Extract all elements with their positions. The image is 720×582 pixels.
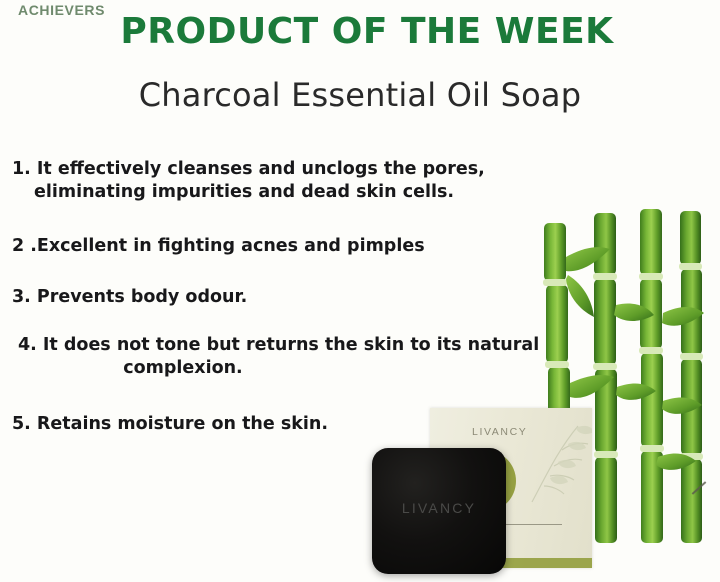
benefit-text: Excellent in fighting acnes and pimples [37, 236, 425, 256]
benefit-number: 4. [18, 335, 37, 355]
benefits-list: 1. It effectively cleanses and unclogs t… [0, 158, 600, 456]
benefit-text: It effectively cleanses and unclogs the … [37, 159, 485, 179]
soap-brand-label: LIVANCY [372, 500, 506, 516]
list-item: 1. It effectively cleanses and unclogs t… [0, 158, 600, 205]
benefit-number: 5. [12, 414, 31, 434]
list-item: 3. Prevents body odour. [0, 286, 600, 309]
brand-kicker: ACHIEVERS [18, 2, 105, 18]
benefit-text: It does not tone but returns the skin to… [43, 335, 539, 355]
list-item: 5. Retains moisture on the skin. [0, 413, 600, 436]
benefit-text-line2: eliminating impurities and dead skin cel… [12, 181, 600, 204]
product-subtitle: Charcoal Essential Oil Soap [0, 76, 720, 114]
list-item: 4. It does not tone but returns the skin… [0, 334, 600, 381]
benefit-text-line2: complexion. [18, 357, 348, 380]
benefit-number: 1. [12, 159, 31, 179]
benefit-number: 3. [12, 287, 31, 307]
poster-canvas: ACHIEVERS PRODUCT OF THE WEEK Charcoal E… [0, 0, 720, 582]
soap-bar: LIVANCY [372, 448, 506, 574]
benefit-text: Retains moisture on the skin. [37, 414, 328, 434]
bamboo-stalk-3 [639, 209, 664, 543]
benefit-number: 2 . [12, 236, 37, 256]
page-title: PRODUCT OF THE WEEK [0, 11, 720, 52]
list-item: 2 .Excellent in fighting acnes and pimpl… [0, 235, 600, 258]
benefit-text: Prevents body odour. [37, 287, 247, 307]
